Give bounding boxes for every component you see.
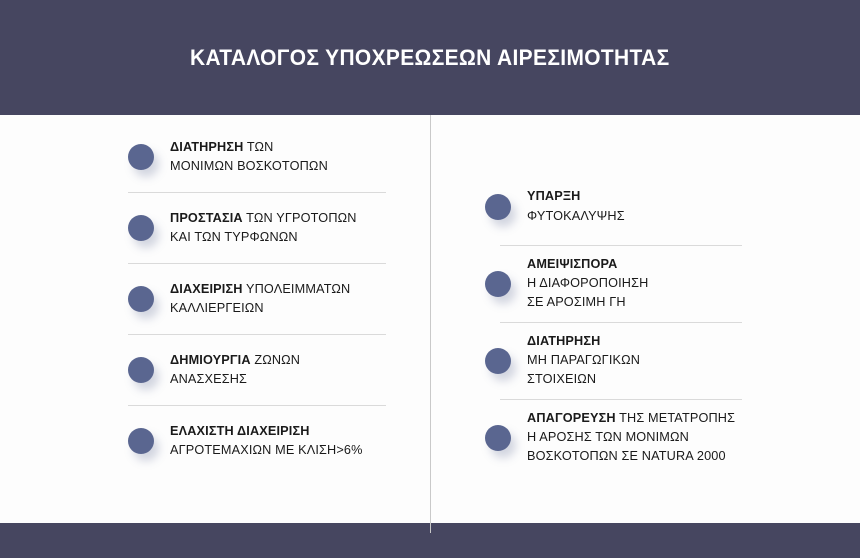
item-divider [128, 192, 386, 193]
list-item-text: ΔΗΜΙΟΥΡΓΙΑ ΖΩΝΩΝΑΝΑΣΧΕΣΗΣ [170, 351, 300, 390]
list-item-text: ΔΙΑΧΕΙΡΙΣΗ ΥΠΟΛΕΙΜΜΑΤΩΝΚΑΛΛΙΕΡΓΕΙΩΝ [170, 280, 350, 319]
list-item-keyword: ΔΙΑΧΕΙΡΙΣΗ [170, 282, 243, 296]
bullet-circle-icon [128, 144, 154, 170]
list-item[interactable]: ΑΠΑΓΟΡΕΥΣΗ ΤΗΣ ΜΕΤΑΤΡΟΠΗΣΗ ΑΡΟΣΗΣ ΤΩΝ ΜΟ… [485, 409, 830, 467]
header-bar: ΚΑΤΑΛΟΓΟΣ ΥΠΟΧΡΕΩΣΕΩΝ ΑΙΡΕΣΙΜΟΤΗΤΑΣ [0, 0, 860, 115]
list-item-keyword: ΕΛΑΧΙΣΤΗ ΔΙΑΧΕΙΡΙΣΗ [170, 424, 310, 438]
list-item-text: ΠΡΟΣΤΑΣΙΑ ΤΩΝ ΥΓΡΟΤΟΠΩΝΚΑΙ ΤΩΝ ΤΥΡΦΩΝΩΝ [170, 209, 357, 248]
list-item-line: ΜΗ ΠΑΡΑΓΩΓΙΚΩΝ [527, 351, 640, 370]
list-item-headline: ΥΠΑΡΞΗ [527, 187, 625, 206]
list-item-text: ΔΙΑΤΗΡΗΣΗΜΗ ΠΑΡΑΓΩΓΙΚΩΝΣΤΟΙΧΕΙΩΝ [527, 332, 640, 390]
list-item-keyword: ΔΙΑΤΗΡΗΣΗ [170, 140, 243, 154]
bullet-circle-icon [128, 286, 154, 312]
bullet-circle-icon [485, 425, 511, 451]
list-item-headline: ΔΙΑΤΗΡΗΣΗ ΤΩΝ [170, 138, 328, 157]
list-item-line: Η ΔΙΑΦΟΡΟΠΟΙΗΣΗ [527, 274, 648, 293]
list-item-keyword: ΑΜΕΙΨΙΣΠΟΡΑ [527, 257, 618, 271]
list-item-headline-rest: ΖΩΝΩΝ [251, 353, 300, 367]
list-item-line: ΑΓΡΟΤΕΜΑΧΙΩΝ ΜΕ ΚΛΙΣΗ>6% [170, 441, 363, 460]
list-item-text: ΑΜΕΙΨΙΣΠΟΡΑΗ ΔΙΑΦΟΡΟΠΟΙΗΣΗΣΕ ΑΡΟΣΙΜΗ ΓΗ [527, 255, 648, 313]
item-divider [128, 405, 386, 406]
list-item-headline: ΑΜΕΙΨΙΣΠΟΡΑ [527, 255, 648, 274]
list-item-line: ΜΟΝΙΜΩΝ ΒΟΣΚΟΤΟΠΩΝ [170, 157, 328, 176]
list-item-keyword: ΠΡΟΣΤΑΣΙΑ [170, 211, 243, 225]
list-item[interactable]: ΥΠΑΡΞΗΦΥΤΟΚΑΛΥΨΗΣ [485, 178, 830, 236]
content-area: ΔΙΑΤΗΡΗΣΗ ΤΩΝΜΟΝΙΜΩΝ ΒΟΣΚΟΤΟΠΩΝΠΡΟΣΤΑΣΙΑ… [0, 115, 860, 523]
list-item-text: ΕΛΑΧΙΣΤΗ ΔΙΑΧΕΙΡΙΣΗΑΓΡΟΤΕΜΑΧΙΩΝ ΜΕ ΚΛΙΣΗ… [170, 422, 363, 461]
list-item-text: ΔΙΑΤΗΡΗΣΗ ΤΩΝΜΟΝΙΜΩΝ ΒΟΣΚΟΤΟΠΩΝ [170, 138, 328, 177]
list-item-headline-rest: ΥΠΟΛΕΙΜΜΑΤΩΝ [243, 282, 351, 296]
page-title: ΚΑΤΑΛΟΓΟΣ ΥΠΟΧΡΕΩΣΕΩΝ ΑΙΡΕΣΙΜΟΤΗΤΑΣ [190, 45, 670, 71]
list-item-line: ΑΝΑΣΧΕΣΗΣ [170, 370, 300, 389]
list-item-headline-rest: ΤΗΣ ΜΕΤΑΤΡΟΠΗΣ [616, 411, 735, 425]
bullet-circle-icon [128, 357, 154, 383]
list-item-keyword: ΔΗΜΙΟΥΡΓΙΑ [170, 353, 251, 367]
bullet-circle-icon [128, 215, 154, 241]
list-item-headline: ΔΙΑΧΕΙΡΙΣΗ ΥΠΟΛΕΙΜΜΑΤΩΝ [170, 280, 350, 299]
list-item[interactable]: ΑΜΕΙΨΙΣΠΟΡΑΗ ΔΙΑΦΟΡΟΠΟΙΗΣΗΣΕ ΑΡΟΣΙΜΗ ΓΗ [485, 255, 830, 313]
bullet-circle-icon [485, 194, 511, 220]
item-divider [500, 399, 742, 400]
list-item-headline: ΔΙΑΤΗΡΗΣΗ [527, 332, 640, 351]
list-item-line: ΦΥΤΟΚΑΛΥΨΗΣ [527, 207, 625, 226]
list-item[interactable]: ΠΡΟΣΤΑΣΙΑ ΤΩΝ ΥΓΡΟΤΟΠΩΝΚΑΙ ΤΩΝ ΤΥΡΦΩΝΩΝ [128, 202, 385, 254]
list-item-headline: ΕΛΑΧΙΣΤΗ ΔΙΑΧΕΙΡΙΣΗ [170, 422, 363, 441]
list-item[interactable]: ΔΗΜΙΟΥΡΓΙΑ ΖΩΝΩΝΑΝΑΣΧΕΣΗΣ [128, 344, 385, 396]
list-item-line: ΒΟΣΚΟΤΟΠΩΝ ΣΕ NATURA 2000 [527, 447, 735, 466]
list-item[interactable]: ΔΙΑΤΗΡΗΣΗΜΗ ΠΑΡΑΓΩΓΙΚΩΝΣΤΟΙΧΕΙΩΝ [485, 332, 830, 390]
list-item-keyword: ΑΠΑΓΟΡΕΥΣΗ [527, 411, 616, 425]
right-column: ΥΠΑΡΞΗΦΥΤΟΚΑΛΥΨΗΣΑΜΕΙΨΙΣΠΟΡΑΗ ΔΙΑΦΟΡΟΠΟΙ… [430, 115, 860, 523]
list-item-text: ΥΠΑΡΞΗΦΥΤΟΚΑΛΥΨΗΣ [527, 187, 625, 226]
list-item-line: ΚΑΛΛΙΕΡΓΕΙΩΝ [170, 299, 350, 318]
list-item-line: ΣΕ ΑΡΟΣΙΜΗ ΓΗ [527, 293, 648, 312]
column-separator [430, 115, 431, 533]
bullet-circle-icon [485, 271, 511, 297]
list-item-headline-rest: ΤΩΝ [243, 140, 273, 154]
list-item-text: ΑΠΑΓΟΡΕΥΣΗ ΤΗΣ ΜΕΤΑΤΡΟΠΗΣΗ ΑΡΟΣΗΣ ΤΩΝ ΜΟ… [527, 409, 735, 467]
list-item-line: ΚΑΙ ΤΩΝ ΤΥΡΦΩΝΩΝ [170, 228, 357, 247]
list-item-line: Η ΑΡΟΣΗΣ ΤΩΝ ΜΟΝΙΜΩΝ [527, 428, 735, 447]
list-item-headline: ΑΠΑΓΟΡΕΥΣΗ ΤΗΣ ΜΕΤΑΤΡΟΠΗΣ [527, 409, 735, 428]
list-item-keyword: ΥΠΑΡΞΗ [527, 189, 580, 203]
item-divider [500, 322, 742, 323]
list-item-keyword: ΔΙΑΤΗΡΗΣΗ [527, 334, 600, 348]
item-divider [500, 245, 742, 246]
list-item-headline: ΔΗΜΙΟΥΡΓΙΑ ΖΩΝΩΝ [170, 351, 300, 370]
bullet-circle-icon [128, 428, 154, 454]
item-divider [128, 263, 386, 264]
list-item-headline: ΠΡΟΣΤΑΣΙΑ ΤΩΝ ΥΓΡΟΤΟΠΩΝ [170, 209, 357, 228]
list-item-headline-rest: ΤΩΝ ΥΓΡΟΤΟΠΩΝ [243, 211, 357, 225]
list-item-line: ΣΤΟΙΧΕΙΩΝ [527, 370, 640, 389]
list-item[interactable]: ΕΛΑΧΙΣΤΗ ΔΙΑΧΕΙΡΙΣΗΑΓΡΟΤΕΜΑΧΙΩΝ ΜΕ ΚΛΙΣΗ… [128, 415, 385, 467]
bullet-circle-icon [485, 348, 511, 374]
item-divider [128, 334, 386, 335]
list-item[interactable]: ΔΙΑΤΗΡΗΣΗ ΤΩΝΜΟΝΙΜΩΝ ΒΟΣΚΟΤΟΠΩΝ [128, 131, 385, 183]
list-item[interactable]: ΔΙΑΧΕΙΡΙΣΗ ΥΠΟΛΕΙΜΜΑΤΩΝΚΑΛΛΙΕΡΓΕΙΩΝ [128, 273, 385, 325]
left-column: ΔΙΑΤΗΡΗΣΗ ΤΩΝΜΟΝΙΜΩΝ ΒΟΣΚΟΤΟΠΩΝΠΡΟΣΤΑΣΙΑ… [0, 115, 430, 523]
slide-root: ΚΑΤΑΛΟΓΟΣ ΥΠΟΧΡΕΩΣΕΩΝ ΑΙΡΕΣΙΜΟΤΗΤΑΣ ΔΙΑΤ… [0, 0, 860, 558]
